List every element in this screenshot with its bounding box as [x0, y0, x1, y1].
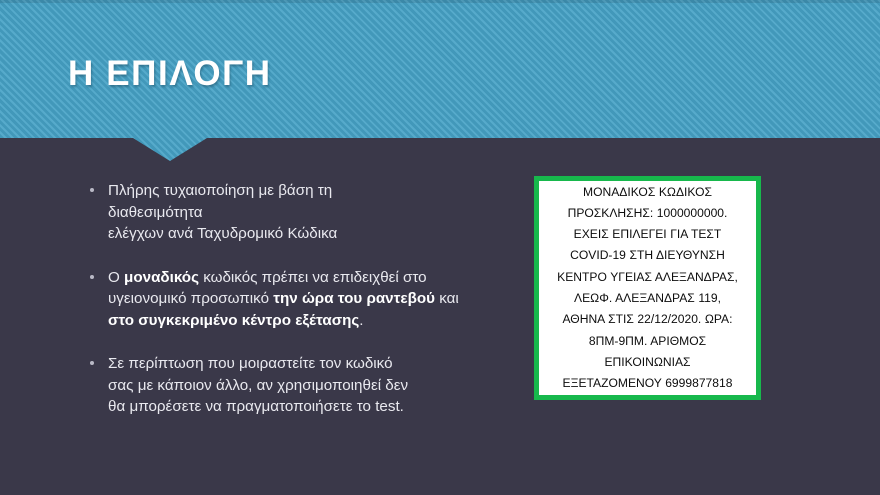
list-item: Σε περίπτωση που μοιραστείτε τον κωδικό … — [86, 353, 486, 418]
page-title: Η ΕΠΙΛΟΓΗ — [68, 53, 272, 95]
banner-top-edge — [0, 0, 880, 3]
bullet-text-2: Ο μοναδικός κωδικός πρέπει να επιδειχθεί… — [108, 267, 486, 332]
bullet-dot-icon — [90, 361, 94, 365]
bullet-1-line-3: ελέγχων ανά Ταχυδρομικό Κώδικα — [108, 225, 337, 242]
sms-line-7: ΑΘΗΝΑ ΣΤΙΣ 22/12/2020. ΩΡΑ: — [563, 312, 733, 326]
list-item: Πλήρης τυχαιοποίηση με βάση τη διαθεσιμό… — [86, 180, 486, 245]
sms-sample-box: ΜΟΝΑΔΙΚΟΣ ΚΩΔΙΚΟΣ ΠΡΟΣΚΛΗΣΗΣ: 1000000000… — [534, 176, 761, 400]
bullet-3-line-3: θα μπορέσετε να πραγματοποιήσετε το test… — [108, 398, 404, 415]
bullet-1-line-1: Πλήρης τυχαιοποίηση με βάση τη — [108, 182, 332, 199]
bullet-2-seg-5: στο συγκεκριμένο κέντρο εξέτασης — [108, 312, 359, 329]
bullet-2-seg-0: Ο — [108, 269, 124, 286]
bullet-dot-icon — [90, 275, 94, 279]
sms-line-8: 8ΠΜ-9ΠΜ. ΑΡΙΘΜΟΣ — [589, 334, 706, 348]
bullet-2-seg-4: και — [435, 290, 459, 307]
bullet-text-3: Σε περίπτωση που μοιραστείτε τον κωδικό … — [108, 353, 486, 418]
sms-line-2: ΠΡΟΣΚΛΗΣΗΣ: 1000000000. — [568, 206, 728, 220]
bullet-3-line-1: Σε περίπτωση που μοιραστείτε τον κωδικό — [108, 355, 393, 372]
bullet-text-1: Πλήρης τυχαιοποίηση με βάση τη διαθεσιμό… — [108, 180, 486, 245]
sms-line-4: COVID-19 ΣΤΗ ΔΙΕΥΘΥΝΣΗ — [570, 248, 725, 262]
bullet-list: Πλήρης τυχαιοποίηση με βάση τη διαθεσιμό… — [86, 180, 486, 418]
list-item: Ο μοναδικός κωδικός πρέπει να επιδειχθεί… — [86, 267, 486, 332]
slide-canvas: Η ΕΠΙΛΟΓΗ Πλήρης τυχαιοποίηση με βάση τη… — [0, 0, 880, 495]
sms-line-6: ΛΕΩΦ. ΑΛΕΞΑΝΔΡΑΣ 119, — [574, 291, 721, 305]
bullet-2-seg-3: την ώρα του ραντεβού — [273, 290, 435, 307]
sms-line-3: ΕΧΕΙΣ ΕΠΙΛΕΓΕΙ ΓΙΑ ΤΕΣΤ — [574, 227, 722, 241]
sms-sample-text: ΜΟΝΑΔΙΚΟΣ ΚΩΔΙΚΟΣ ΠΡΟΣΚΛΗΣΗΣ: 1000000000… — [557, 182, 738, 395]
sms-line-1: ΜΟΝΑΔΙΚΟΣ ΚΩΔΙΚΟΣ — [583, 185, 712, 199]
sms-line-5: ΚΕΝΤΡΟ ΥΓΕΙΑΣ ΑΛΕΞΑΝΔΡΑΣ, — [557, 270, 738, 284]
bullet-dot-icon — [90, 188, 94, 192]
bullet-2-seg-6: . — [359, 312, 363, 329]
bullet-3-line-2: σας με κάποιον άλλο, αν χρησιμοποιηθεί δ… — [108, 377, 408, 394]
bullet-2-seg-1: μοναδικός — [124, 269, 199, 286]
bullet-1-line-2: διαθεσιμότητα — [108, 204, 203, 221]
sms-line-10: ΕΞΕΤΑΖΟΜΕΝΟΥ 6999877818 — [563, 376, 733, 390]
sms-line-9: ΕΠΙΚΟΙΝΩΝΙΑΣ — [604, 355, 690, 369]
